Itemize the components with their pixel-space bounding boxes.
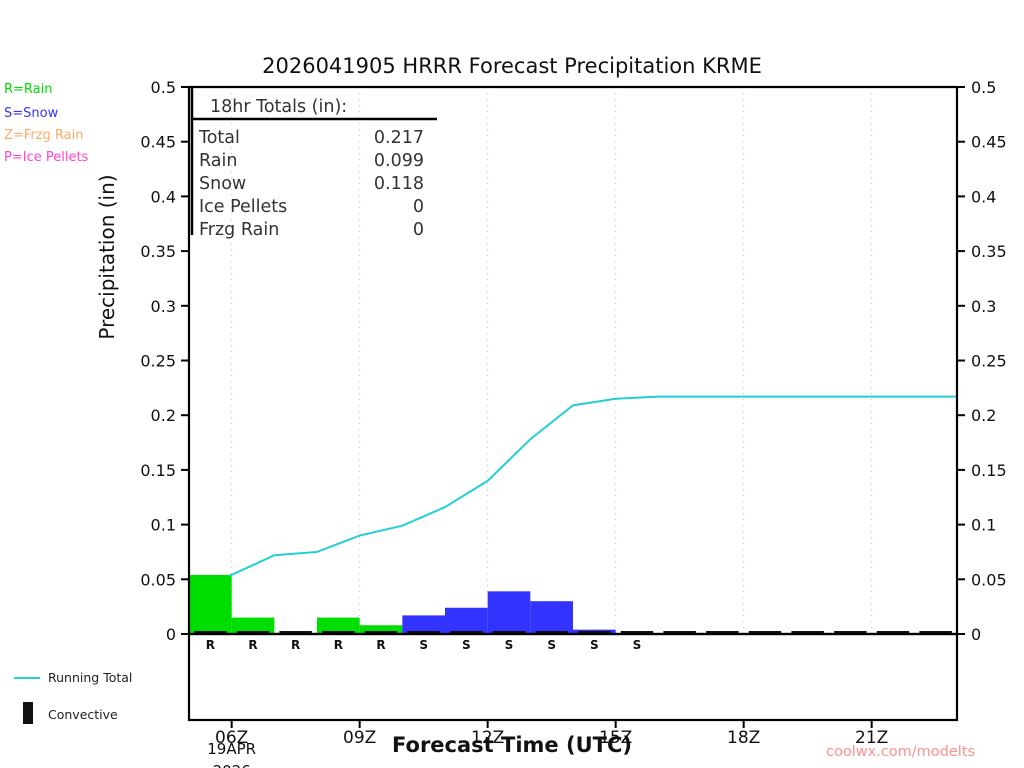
bars-group — [189, 575, 616, 634]
y-tick-label-right: 0.35 — [971, 242, 1007, 261]
totals-row-label: Rain — [199, 151, 237, 171]
y-tick-label-left: 0.45 — [140, 133, 176, 152]
y-axis-left-ticks: 00.050.10.150.20.250.30.350.40.450.5 — [140, 78, 189, 644]
y-tick-label-left: 0.5 — [151, 78, 176, 97]
totals-row-label: Frzg Rain — [199, 220, 279, 240]
x-tick-label: 12Z — [471, 728, 504, 748]
y-tick-label-right: 0.25 — [971, 352, 1007, 371]
totals-row-value: 0 — [413, 197, 424, 217]
totals-box-header: 18hr Totals (in): — [210, 97, 347, 117]
y-tick-label-right: 0.3 — [971, 297, 996, 316]
precip-type-label: S — [505, 638, 514, 652]
gridlines-group — [232, 87, 872, 634]
precip-type-label: R — [248, 638, 257, 652]
totals-row-label: Total — [198, 128, 240, 148]
y-tick-label-right: 0.1 — [971, 516, 996, 535]
precip-type-label: S — [419, 638, 428, 652]
x-axis-ticks: 06Z09Z12Z15Z18Z21Z19APR2026 — [207, 720, 888, 768]
y-tick-label-left: 0.15 — [140, 461, 176, 480]
y-tick-label-left: 0.4 — [151, 187, 176, 206]
precip-type-label: R — [291, 638, 300, 652]
totals-row-value: 0 — [413, 220, 424, 240]
totals-box: 18hr Totals (in):Total0.217Rain0.099Snow… — [192, 87, 437, 240]
y-tick-label-right: 0 — [971, 625, 981, 644]
y-tick-label-left: 0.25 — [140, 352, 176, 371]
y-tick-label-right: 0.15 — [971, 461, 1007, 480]
precip-type-row: RRRRRSSSSSS — [206, 638, 642, 652]
totals-row-value: 0.217 — [374, 128, 424, 148]
y-tick-label-left: 0.05 — [140, 570, 176, 589]
precip-type-label: R — [206, 638, 215, 652]
x-tick-label: 21Z — [855, 728, 888, 748]
y-tick-label-right: 0.4 — [971, 187, 996, 206]
precipitation-forecast-chart: 2026041905 HRRR Forecast Precipitation K… — [0, 0, 1024, 768]
totals-row-value: 0.118 — [374, 174, 424, 194]
y-tick-label-left: 0.1 — [151, 516, 176, 535]
totals-row-label: Snow — [199, 174, 246, 194]
y-axis-right-ticks: 00.050.10.150.20.250.30.350.40.450.5 — [957, 78, 1007, 644]
precip-type-label: S — [547, 638, 556, 652]
x-axis-date-label: 2026 — [213, 762, 251, 768]
y-tick-label-right: 0.05 — [971, 570, 1007, 589]
y-tick-label-right: 0.5 — [971, 78, 996, 97]
x-tick-label: 18Z — [727, 728, 760, 748]
totals-row-label: Ice Pellets — [199, 197, 287, 217]
precip-type-label: S — [590, 638, 599, 652]
precip-bar — [530, 601, 573, 634]
running-total-curve-group — [230, 397, 957, 575]
precip-type-label: S — [462, 638, 471, 652]
y-tick-label-right: 0.2 — [971, 406, 996, 425]
plot-area: RRRRRSSSSSS 00.050.10.150.20.250.30.350.… — [0, 0, 1024, 768]
x-axis-date-label: 19APR — [207, 740, 256, 758]
precip-type-label: S — [633, 638, 642, 652]
precip-type-label: R — [376, 638, 385, 652]
precip-type-label: R — [334, 638, 343, 652]
running-total-line — [230, 397, 957, 575]
y-tick-label-right: 0.45 — [971, 133, 1007, 152]
totals-row-value: 0.099 — [374, 151, 424, 171]
y-tick-label-left: 0 — [166, 625, 176, 644]
x-tick-label: 09Z — [343, 728, 376, 748]
precip-bar — [189, 575, 232, 634]
y-tick-label-left: 0.2 — [151, 406, 176, 425]
x-tick-label: 15Z — [599, 728, 632, 748]
precip-bar — [445, 608, 488, 634]
y-tick-label-left: 0.3 — [151, 297, 176, 316]
precip-bar — [488, 591, 531, 634]
y-tick-label-left: 0.35 — [140, 242, 176, 261]
